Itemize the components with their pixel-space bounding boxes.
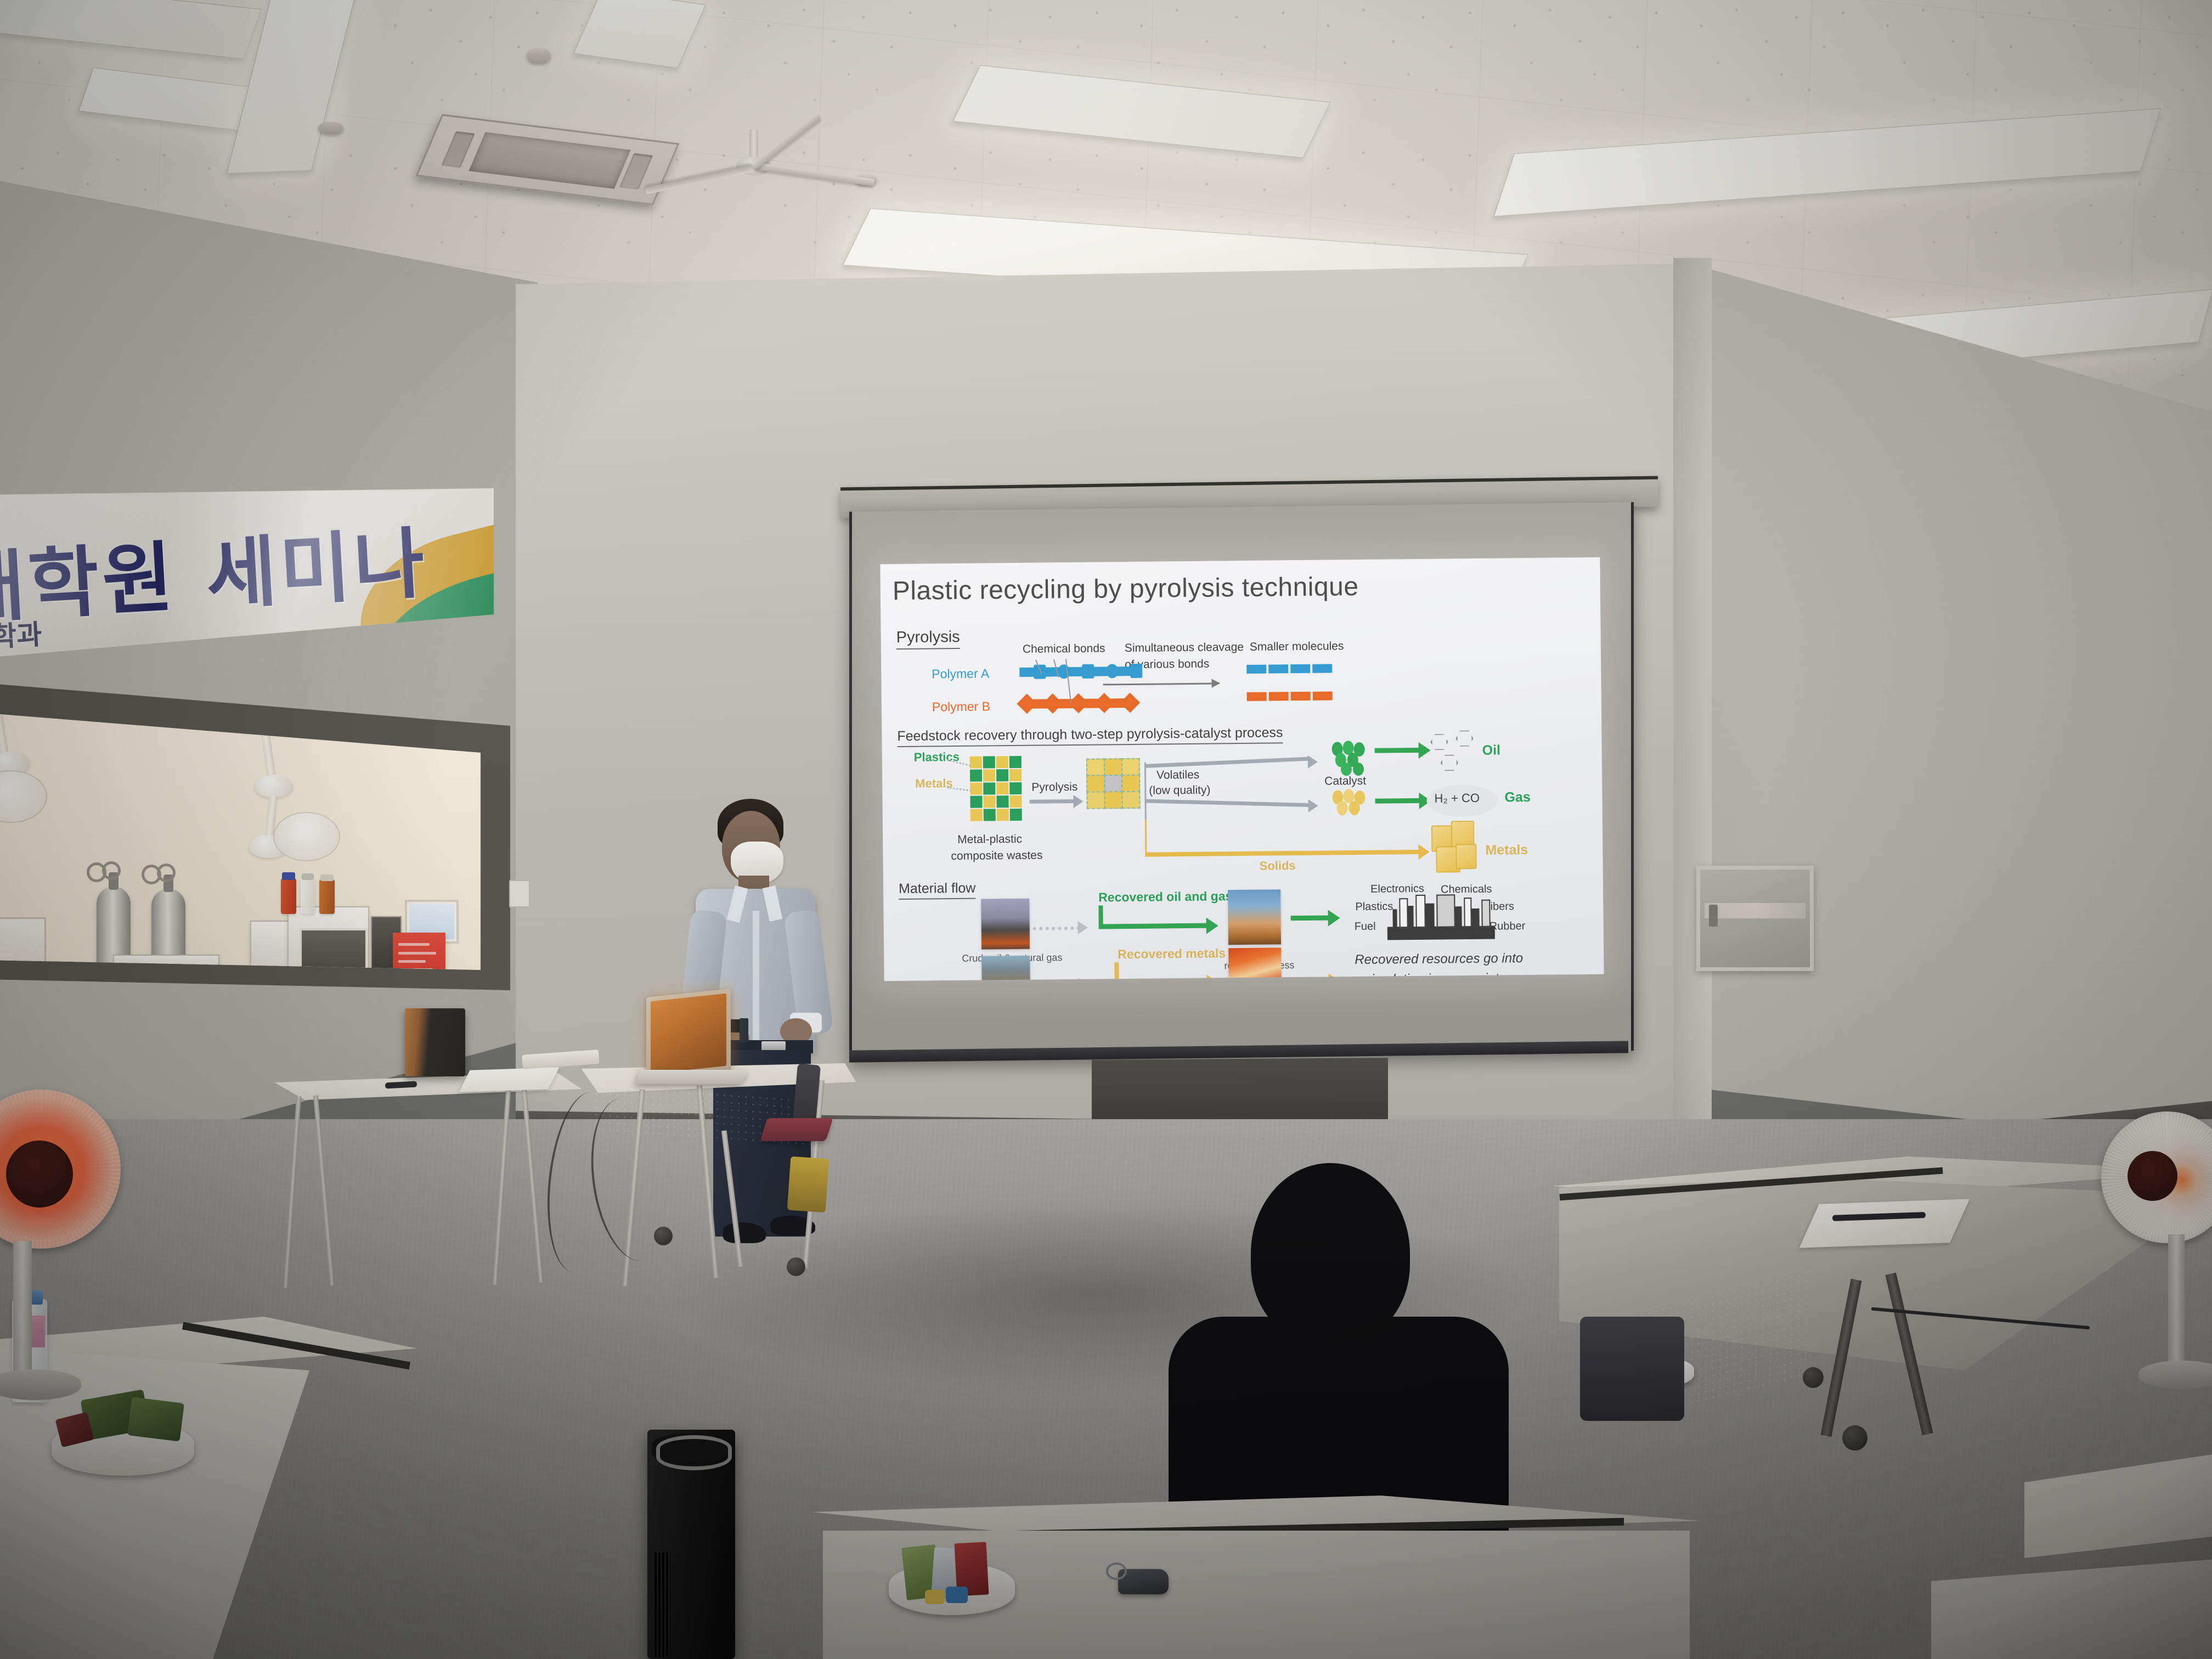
oil-molecule-3: [1441, 754, 1458, 771]
section-heading-material-flow: Material flow: [899, 881, 976, 900]
section-heading-pyrolysis: Pyrolysis: [896, 628, 960, 650]
right-wall: [1690, 248, 2212, 1214]
pyrolysis-step-arrow-head: [1073, 795, 1083, 808]
volatiles-arrow-top-head: [1308, 755, 1318, 769]
label-metals-out: Metals: [1485, 842, 1528, 859]
right-table-caster-1: [1842, 1425, 1867, 1451]
label-waste-line1: Metal-plastic: [957, 833, 1022, 847]
presentation-slide: Plastic recycling by pyrolysis technique…: [880, 557, 1604, 981]
presenter-laptop-screen: [651, 994, 726, 1074]
presenter-chair-caster-2: [787, 1257, 805, 1276]
wall-access-panel[interactable]: [1696, 866, 1814, 971]
snack-left-green-2: [127, 1397, 184, 1441]
label-gas-formula: H₂ + CO: [1434, 791, 1480, 806]
paper-on-right-table: [1799, 1199, 1970, 1248]
slide-title: Plastic recycling by pyrolysis technique: [893, 572, 1359, 606]
reagent-bottle-cap-1: [282, 872, 295, 880]
branch-stem: [1144, 763, 1147, 828]
refinery-to-products-arrow-head: [1328, 910, 1340, 926]
car-key-ring: [1106, 1562, 1127, 1580]
oil-gas-refinery-photo: [1228, 889, 1281, 945]
tower-air-purifier[interactable]: [647, 1430, 735, 1659]
reagent-bottle-amber-1: [281, 878, 296, 914]
snack-candy-blue: [946, 1587, 968, 1603]
crude-oil-photo: [981, 899, 1030, 950]
recovered-metals-elbow-vert: [1114, 962, 1119, 981]
crude-dotted-arrow-head: [1078, 921, 1088, 934]
cleavage-arrow-head: [1211, 679, 1220, 687]
seminar-room-photo: 대학원 세미나 공학과: [0, 0, 2212, 1659]
recovered-metal-chunk-4: [1455, 844, 1476, 869]
label-smaller-molecules: Smaller molecules: [1250, 640, 1344, 654]
smaller-molecules-b: [1247, 691, 1333, 701]
crude-dotted-arrow: [1033, 927, 1080, 930]
heater-right-stand: [2168, 1234, 2185, 1372]
catalyst-yellow-cluster: [1331, 789, 1368, 821]
presenter-laptop-base[interactable]: [634, 1070, 748, 1084]
label-gas: Gas: [1504, 789, 1531, 805]
smoke-detector-1: [318, 122, 343, 134]
papers-on-desk: [459, 1067, 560, 1092]
volatiles-arrow-bottom: [1145, 799, 1310, 807]
label-waste-line2: composite wastes: [951, 849, 1042, 863]
recovered-oil-arrow: [1099, 923, 1209, 929]
reagent-bottle-cap-2: [302, 873, 314, 880]
label-polymer-b: Polymer B: [932, 699, 990, 714]
gas-arrow: [1375, 798, 1421, 804]
label-recovered-oil-gas: Recovered oil and gas: [1098, 889, 1232, 905]
lab-instrument-display: [300, 928, 368, 971]
access-panel-latch[interactable]: [1709, 905, 1718, 927]
lab-safety-poster: [393, 933, 445, 971]
cleavage-arrow: [1103, 683, 1212, 686]
label-closing-line1: Recovered resources go into: [1355, 951, 1523, 968]
oil-molecule-2: [1455, 730, 1473, 747]
right-chair-back[interactable]: [1580, 1317, 1684, 1421]
gas-regulator-knob-4: [157, 864, 176, 882]
presenter-shirt-placket: [753, 911, 759, 1048]
label-pyrolysis-step: Pyrolysis: [1031, 781, 1077, 794]
banner-sub-text: 공학과: [0, 612, 43, 656]
solids-arrow: [1145, 850, 1419, 857]
oil-arrow: [1375, 748, 1421, 753]
presenter-chair-seat[interactable]: [760, 1118, 833, 1141]
label-catalyst: Catalyst: [1324, 775, 1366, 788]
reagent-bottle-clear: [301, 878, 315, 914]
pyrolysis-step-arrow: [1030, 799, 1075, 804]
solids-branch-vertical: [1145, 820, 1147, 855]
polymer-b-chain: [1020, 696, 1135, 711]
right-table-caster-2: [1803, 1367, 1824, 1388]
label-recovered-metals: Recovered metals: [1118, 946, 1226, 962]
reagent-bottle-cap-3: [320, 874, 334, 881]
purifier-vent: [653, 1553, 670, 1657]
lab-window: [0, 713, 481, 971]
label-solids: Solids: [1260, 859, 1296, 873]
label-polymer-a: Polymer A: [932, 666, 989, 681]
smaller-molecules-a: [1246, 664, 1332, 673]
refinery-to-products-arrow: [1291, 915, 1330, 921]
label-chemical-bonds: Chemical bonds: [1023, 642, 1105, 656]
metal-refinery-photo: [1228, 947, 1282, 981]
presenter-id-badge: [740, 1018, 748, 1042]
industry-skyline-graphic: [1387, 891, 1495, 940]
reagent-bottle-amber-2: [319, 879, 335, 914]
chair-base-yellow: [787, 1156, 830, 1213]
pyrolyzed-cube: [1086, 758, 1139, 821]
wall-outlet: [509, 880, 530, 907]
heater-left-foot: [0, 1369, 81, 1400]
label-plastics: Plastics: [914, 750, 960, 765]
wall-column: [1673, 258, 1712, 1141]
purifier-top-ring: [656, 1435, 732, 1470]
natural-ore-photo: [981, 956, 1030, 981]
smoke-detector-2: [527, 48, 551, 63]
snack-candy-yellow: [925, 1590, 945, 1604]
heater-left-stand: [13, 1241, 32, 1384]
presenter-shoe-left: [723, 1222, 766, 1243]
section-heading-feedstock: Feedstock recovery through two-step pyro…: [897, 725, 1283, 747]
heater-right-foot: [2138, 1361, 2212, 1389]
solids-arrow-head: [1418, 844, 1429, 860]
lab-dish-2: [273, 812, 340, 861]
label-cleavage-line1: Simultaneous cleavage: [1125, 641, 1244, 655]
label-volatiles-line2: (low quality): [1149, 784, 1210, 798]
oil-molecule-1: [1430, 733, 1448, 751]
label-oil: Oil: [1482, 742, 1501, 758]
volatiles-arrow-top: [1144, 757, 1309, 768]
oil-arrow-head: [1419, 742, 1431, 759]
metal-plastic-composite-cube: [970, 756, 1023, 825]
label-volatiles-line1: Volatiles: [1156, 769, 1199, 782]
product-label-fuel: Fuel: [1355, 921, 1376, 933]
catalyst-green-cluster: [1331, 741, 1368, 775]
label-metals-in: Metals: [915, 776, 953, 791]
recovered-oil-arrow-head: [1206, 917, 1218, 934]
volatiles-arrow-bottom-head: [1308, 799, 1318, 812]
audio-speaker: [405, 1008, 465, 1076]
gas-regulator-knob-2: [102, 861, 121, 880]
